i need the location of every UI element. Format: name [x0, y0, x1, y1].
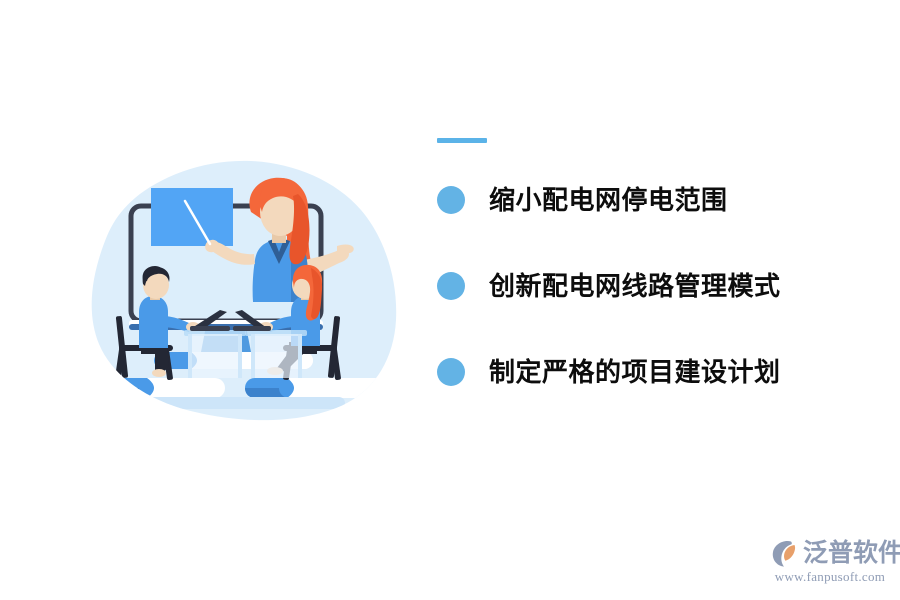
- bullet-label-2: 创新配电网线路管理模式: [489, 272, 781, 301]
- bullet-label-3: 制定严格的项目建设计划: [489, 358, 781, 387]
- accent-bar: [437, 138, 487, 143]
- brand-url: www.fanpusoft.com: [770, 569, 890, 585]
- bullet-list: 缩小配电网停电范围 创新配电网线路管理模式 制定严格的项目建设计划: [437, 178, 867, 394]
- bullet-dot-icon: [437, 358, 465, 386]
- brand-logo: 泛普软件 www.fanpusoft.com: [770, 538, 890, 586]
- brand-logo-row: 泛普软件: [770, 538, 890, 568]
- bullet-item-2: 创新配电网线路管理模式: [437, 264, 867, 308]
- bullet-label-1: 缩小配电网停电范围: [489, 186, 728, 215]
- brand-name: 泛普软件: [803, 541, 900, 566]
- bullet-dot-icon: [437, 272, 465, 300]
- bullet-item-3: 制定严格的项目建设计划: [437, 350, 867, 394]
- bullet-item-1: 缩小配电网停电范围: [437, 178, 867, 222]
- slide-canvas: 缩小配电网停电范围 创新配电网线路管理模式 制定严格的项目建设计划 泛普软件 w…: [0, 0, 900, 600]
- online-classroom-illustration: [55, 140, 405, 440]
- bullet-dot-icon: [437, 186, 465, 214]
- fanpu-logo-icon: [770, 538, 800, 568]
- presentation-board: [151, 188, 233, 246]
